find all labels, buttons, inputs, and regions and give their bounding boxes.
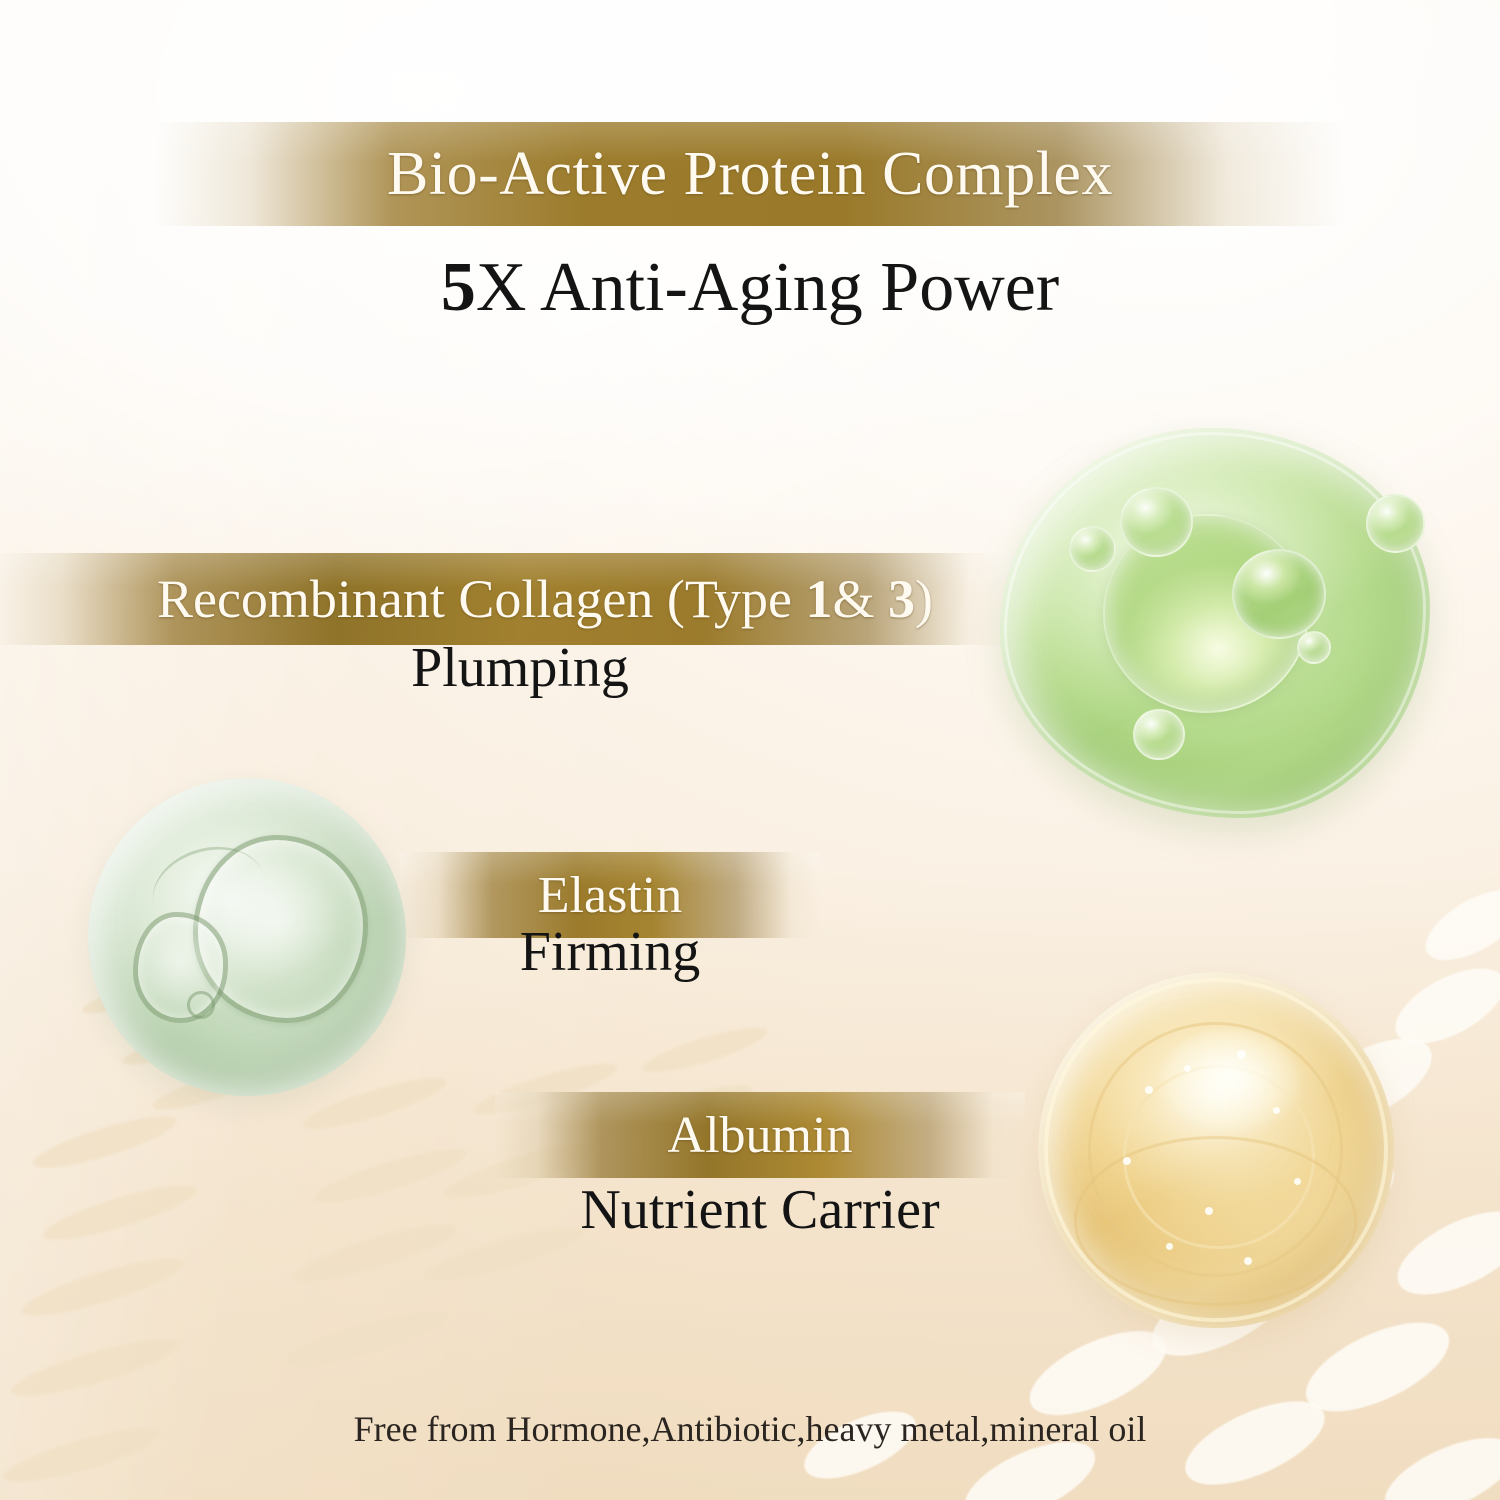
ingredient-banner-collagen: Recombinant Collagen (Type 1& 3)	[0, 553, 1010, 645]
albumin-benefit-text: Nutrient Carrier	[470, 1178, 1050, 1242]
collagen-type-number-3: 3	[888, 569, 915, 629]
collagen-banner-text: Recombinant Collagen (Type 1& 3)	[0, 568, 1010, 630]
product-infographic-poster: Bio-Active Protein Complex 5X Anti-Aging…	[0, 0, 1500, 1500]
collagen-label-post: )	[915, 569, 933, 629]
green-gel-blob-icon	[1000, 428, 1430, 818]
headline-rest: X Anti-Aging Power	[476, 249, 1059, 326]
free-from-footnote: Free from Hormone,Antibiotic,heavy metal…	[0, 1408, 1500, 1450]
amber-droplet-rim	[1044, 978, 1388, 1322]
amber-speck-2	[1184, 1065, 1191, 1072]
ingredient-banner-albumin: Albumin	[495, 1092, 1025, 1178]
title-banner: Bio-Active Protein Complex	[155, 122, 1345, 226]
amber-speck-1	[1145, 1086, 1153, 1094]
green-bubble-4	[1366, 494, 1426, 553]
elastin-banner-text: Elastin	[400, 866, 820, 925]
amber-speck-8	[1166, 1243, 1173, 1250]
collagen-label-mid: &	[833, 569, 889, 629]
green-bubble-6	[1297, 631, 1331, 664]
headline-multiplier: 5	[441, 249, 476, 326]
title-banner-text: Bio-Active Protein Complex	[155, 139, 1345, 210]
amber-gel-droplet-icon	[1038, 972, 1394, 1328]
green-bubble-5	[1133, 709, 1184, 760]
collagen-benefit-text: Plumping	[0, 636, 1040, 700]
green-bubble-2	[1069, 526, 1116, 573]
elastin-benefit-text: Firming	[400, 920, 820, 984]
green-bubble-1	[1120, 487, 1193, 557]
page-headline: 5X Anti-Aging Power	[0, 248, 1500, 328]
sage-gel-droplet-icon	[88, 778, 406, 1096]
collagen-label-pre: Recombinant Collagen (Type	[157, 569, 806, 629]
green-bubble-3	[1232, 549, 1326, 639]
sage-droplet-ring-tiny	[187, 991, 215, 1019]
collagen-type-number-1: 1	[806, 569, 833, 629]
albumin-banner-text: Albumin	[495, 1106, 1025, 1165]
